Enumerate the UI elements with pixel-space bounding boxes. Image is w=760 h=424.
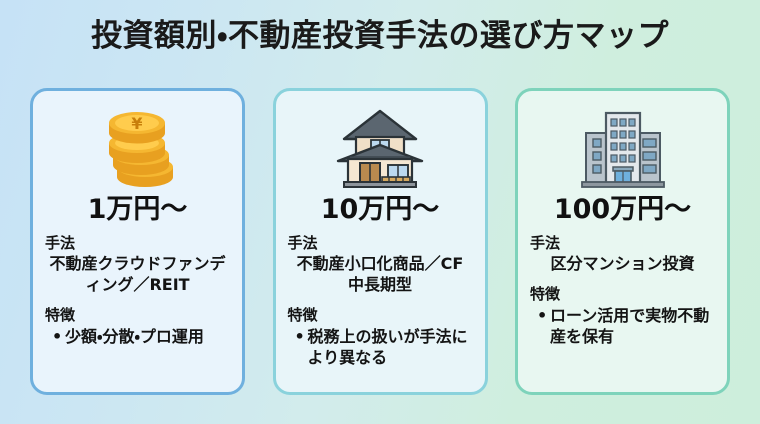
feature-label: 特徴 [45,305,230,325]
method-section: 手法 不動産クラウドファンディング／REIT [45,233,230,296]
feature-item: 少額・分散・プロ運用 [45,327,230,348]
amount-heading: 100万円〜 [530,195,715,225]
card-tier-1[interactable]: ¥ 1万円〜 手法 不動産クラウドファンディング／REIT 特徴 少額・分散・プ… [30,88,245,395]
amount-heading: 10万円〜 [288,195,473,225]
amount-heading: 1万円〜 [45,195,230,225]
coin-stack-icon: ¥ [45,101,230,193]
feature-list: 少額・分散・プロ運用 [45,327,230,348]
svg-text:¥: ¥ [131,114,142,133]
feature-item: 税務上の扱いが手法により異なる [288,327,473,369]
office-building-icon [530,101,715,193]
card-tier-3[interactable]: 100万円〜 手法 区分マンション投資 特徴 ローン活用で実物不動産を保有 [515,88,730,395]
method-value: 区分マンション投資 [530,254,715,275]
feature-list: ローン活用で実物不動産を保有 [530,306,715,348]
infographic-canvas: 投資額別・不動産投資手法の選び方マップ [0,0,760,424]
feature-list: 税務上の扱いが手法により異なる [288,327,473,369]
feature-label: 特徴 [530,284,715,304]
cards-row: ¥ 1万円〜 手法 不動産クラウドファンディング／REIT 特徴 少額・分散・プ… [30,88,730,395]
feature-section: 特徴 税務上の扱いが手法により異なる [288,305,473,369]
japanese-house-icon [288,101,473,193]
feature-section: 特徴 ローン活用で実物不動産を保有 [530,284,715,348]
method-label: 手法 [530,233,715,253]
method-label: 手法 [45,233,230,253]
method-value: 不動産小口化商品／CF中長期型 [288,254,473,296]
card-tier-2[interactable]: 10万円〜 手法 不動産小口化商品／CF中長期型 特徴 税務上の扱いが手法により… [273,88,488,395]
page-title: 投資額別・不動産投資手法の選び方マップ [0,18,760,55]
feature-item: ローン活用で実物不動産を保有 [530,306,715,348]
feature-section: 特徴 少額・分散・プロ運用 [45,305,230,348]
method-section: 手法 区分マンション投資 [530,233,715,275]
feature-label: 特徴 [288,305,473,325]
method-value: 不動産クラウドファンディング／REIT [45,254,230,296]
method-section: 手法 不動産小口化商品／CF中長期型 [288,233,473,296]
method-label: 手法 [288,233,473,253]
